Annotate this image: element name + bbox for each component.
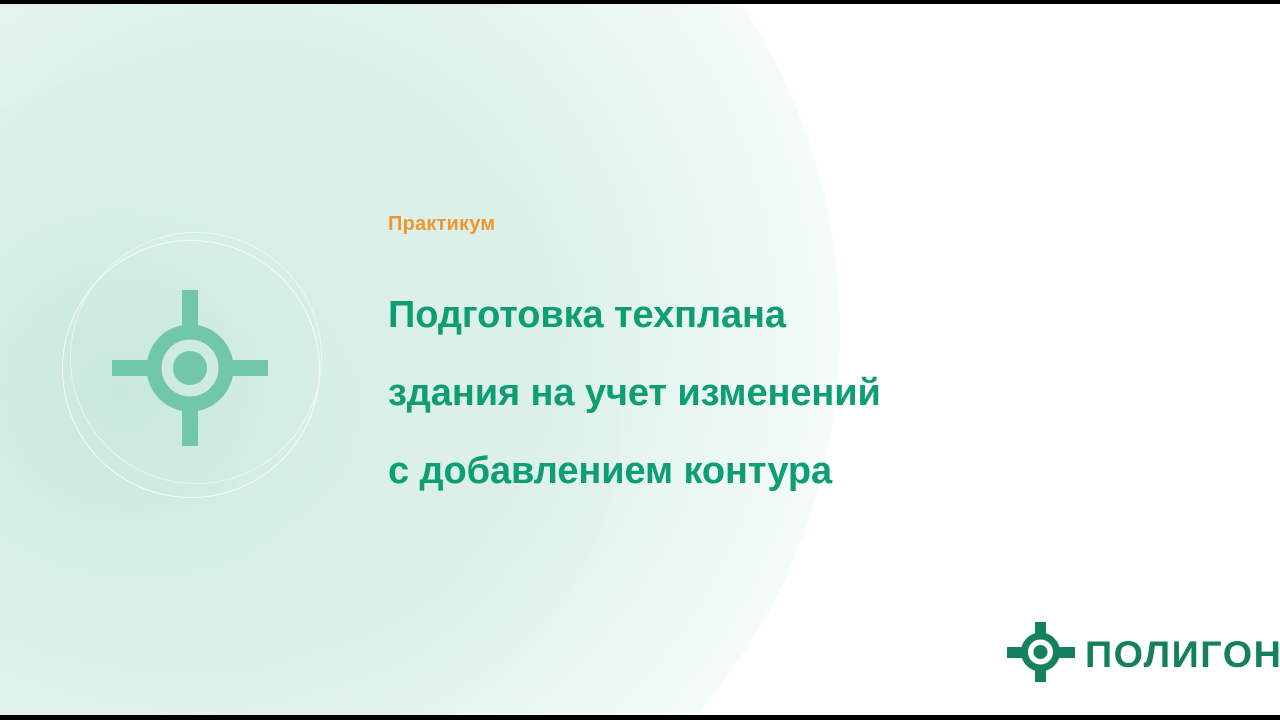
page-title-line-2: здания на учет изменений [388, 354, 1128, 432]
brand-wordmark: ПОЛИГОН [1085, 636, 1280, 673]
crosshair-target-icon [1007, 622, 1075, 687]
slide-canvas: Практикум Подготовка техплана здания на … [0, 0, 1280, 720]
letterbox-bar-bottom [0, 715, 1280, 720]
page-title: Подготовка техплана здания на учет измен… [388, 276, 1128, 510]
letterbox-bar-top [0, 0, 1280, 4]
slide-text-block: Практикум Подготовка техплана здания на … [388, 214, 1128, 510]
slide-eyebrow-label: Практикум [388, 214, 1128, 234]
page-title-line-3: с добавлением контура [388, 432, 1128, 510]
brand-logo: ПОЛИГОН [1007, 622, 1279, 687]
page-title-line-1: Подготовка техплана [388, 276, 1128, 354]
crosshair-target-icon [110, 288, 270, 448]
